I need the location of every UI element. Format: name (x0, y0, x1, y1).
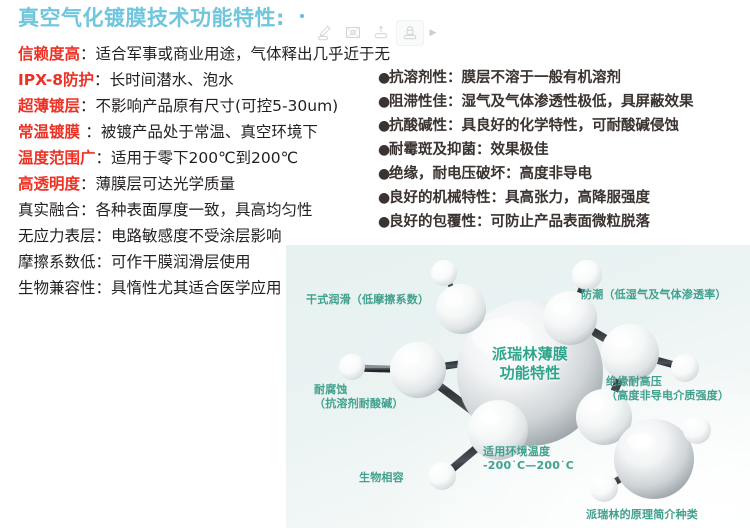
bullet-text: 良好的包覆性：可防止产品表面微粒脱落 (389, 214, 650, 230)
feature-row: 温度范围广：适用于零下200℃到200℃ (18, 145, 388, 171)
diagram-label-line: 适用环境温度 (483, 445, 574, 459)
feature-text: 适用于零下200℃到200℃ (111, 149, 298, 167)
atom-sphere-small (428, 462, 456, 490)
bullet-row: ●良好的包覆性：可防止产品表面微粒脱落 (378, 210, 750, 234)
feature-separator: ： (85, 123, 101, 141)
bullet-text: 绝缘，耐电压破坏：高度非导电 (389, 166, 592, 182)
bullet-row: ●绝缘，耐电压破坏：高度非导电 (378, 162, 750, 186)
diagram-center-line1: 派瑞林薄膜 (472, 345, 588, 364)
feature-label: 无应力表层 (18, 227, 96, 245)
bullet-dot-icon: ● (378, 114, 389, 138)
atom-sphere (601, 324, 659, 382)
lock-image-icon[interactable] (396, 20, 424, 46)
feature-label: IPX-8防护 (18, 71, 94, 89)
toolbar-anchor-dot-icon (300, 14, 304, 18)
atom-sphere-small (431, 260, 457, 286)
diagram-center-line2: 功能特性 (472, 364, 588, 383)
feature-label: 信赖度高 (18, 45, 80, 63)
diagram-label-line: （高度非导电介质强度） (606, 389, 729, 403)
diagram-label-biocompatible: 生物相容 (359, 471, 404, 485)
page-title: 真空气化镀膜技术功能特性: (18, 2, 285, 32)
feature-label: 温度范围广 (18, 149, 96, 167)
diagram-label-line: 生物相容 (359, 471, 404, 485)
feature-label: 摩擦系数低 (18, 253, 96, 271)
parylene-molecule-diagram: 派瑞林薄膜 功能特性 干式润滑（低摩擦系数） 防潮（低湿气及气体渗透率） 耐腐蚀… (286, 245, 750, 528)
diagram-label-line: （抗溶剂耐酸碱） (314, 397, 404, 411)
image-hover-toolbar[interactable]: ▶ (312, 20, 440, 46)
diagram-label-line: -200˙C—200˙C (483, 459, 574, 473)
bullet-dot-icon: ● (378, 66, 389, 90)
bullet-text: 阻滞性佳：湿气及气体渗透性极低，具屏蔽效果 (389, 94, 694, 110)
bullet-text: 抗溶剂性：膜层不溶于一般有机溶剂 (389, 70, 621, 86)
bullet-row: ●阻滞性佳：湿气及气体渗透性极低，具屏蔽效果 (378, 90, 750, 114)
bullet-dot-icon: ● (378, 90, 389, 114)
right-feature-list: ●抗溶剂性：膜层不溶于一般有机溶剂 ●阻滞性佳：湿气及气体渗透性极低，具屏蔽效果… (378, 66, 750, 234)
feature-text: 被镀产品处于常温、真空环境下 (101, 123, 318, 141)
feature-label: 超薄镀层 (18, 97, 80, 115)
feature-separator: ： (80, 175, 96, 193)
feature-separator: ： (80, 201, 96, 219)
atom-sphere (436, 284, 486, 334)
diagram-label-corrosion-resistant: 耐腐蚀 （抗溶剂耐酸碱） (314, 383, 404, 411)
feature-label: 常温镀膜 (18, 123, 85, 141)
diagram-center-label: 派瑞林薄膜 功能特性 (472, 345, 588, 383)
diagram-label-high-voltage-insulation: 绝缘耐高压 （高度非导电介质强度） (606, 375, 729, 403)
bullet-text: 良好的机械特性：具高张力，高降服强度 (389, 190, 650, 206)
feature-text: 不影响产品原有尺寸(可控5-30um) (96, 97, 339, 115)
bullet-dot-icon: ● (378, 138, 389, 162)
feature-text: 具惰性尤其适合医学应用 (111, 279, 282, 297)
bullet-dot-icon: ● (378, 210, 389, 234)
share-image-icon[interactable] (368, 21, 394, 45)
feature-row: IPX-8防护：长时间潜水、泡水 (18, 67, 388, 93)
diagram-label-line: 绝缘耐高压 (606, 375, 729, 389)
bullet-text: 抗酸碱性：具良好的化学特性，可耐酸碱侵蚀 (389, 118, 679, 134)
feature-separator: ： (96, 227, 112, 245)
feature-separator: ： (80, 45, 96, 63)
toolbar-expand-caret-icon[interactable]: ▶ (426, 22, 440, 44)
diagram-label-line: 防潮（低湿气及气体渗透率） (581, 288, 727, 302)
feature-text: 电路敏感度不受涂层影响 (111, 227, 282, 245)
feature-text: 适合军事或商业用途，气体释出几乎近于无 (96, 45, 391, 63)
feature-label: 高透明度 (18, 175, 80, 193)
bullet-row: ●抗酸碱性：具良好的化学特性，可耐酸碱侵蚀 (378, 114, 750, 138)
bullet-row: ●耐霉斑及抑菌：效果极佳 (378, 138, 750, 162)
feature-row: 高透明度：薄膜层可达光学质量 (18, 171, 388, 197)
feature-text: 可作干膜润滑层使用 (111, 253, 251, 271)
atom-sphere-small (339, 354, 365, 380)
bullet-row: ●抗溶剂性：膜层不溶于一般有机溶剂 (378, 66, 750, 90)
edit-pencil-image-icon[interactable] (312, 21, 338, 45)
crop-image-icon[interactable] (340, 21, 366, 45)
atom-sphere-small (590, 474, 618, 502)
bullet-dot-icon: ● (378, 186, 389, 210)
feature-separator: ： (96, 149, 112, 167)
feature-row: 超薄镀层：不影响产品原有尺寸(可控5-30um) (18, 93, 388, 119)
bullet-row: ●良好的机械特性：具高张力，高降服强度 (378, 186, 750, 210)
diagram-label-moisture-proof: 防潮（低湿气及气体渗透率） (581, 288, 727, 302)
feature-text: 各种表面厚度一致，具高均匀性 (96, 201, 313, 219)
feature-separator: ： (94, 71, 110, 89)
feature-separator: ： (96, 279, 112, 297)
diagram-label-operating-temperature: 适用环境温度 -200˙C—200˙C (483, 445, 574, 473)
diagram-label-line: 耐腐蚀 (314, 383, 404, 397)
bullet-text: 耐霉斑及抑菌：效果极佳 (389, 142, 549, 158)
feature-row: 常温镀膜 ：被镀产品处于常温、真空环境下 (18, 119, 388, 145)
diagram-label-line: 派瑞林的原理简介种类 (586, 508, 698, 522)
feature-separator: ： (96, 253, 112, 271)
feature-label: 真实融合 (18, 201, 80, 219)
feature-text: 薄膜层可达光学质量 (96, 175, 236, 193)
diagram-label-parylene-intro: 派瑞林的原理简介种类 (586, 508, 698, 522)
feature-label: 生物兼容性 (18, 279, 96, 297)
bullet-dot-icon: ● (378, 162, 389, 186)
diagram-label-line: 干式润滑（低摩擦系数） (306, 293, 429, 307)
atom-sphere (614, 419, 694, 499)
atom-sphere-small (683, 416, 711, 444)
feature-row: 真实融合：各种表面厚度一致，具高均匀性 (18, 197, 388, 223)
page-root: 真空气化镀膜技术功能特性: 信赖度高：适合军事或商业用途，气体释出几乎近于无 I… (0, 0, 750, 528)
atom-sphere-small (572, 260, 602, 290)
feature-text: 长时间潜水、泡水 (110, 71, 234, 89)
diagram-label-dry-lubrication: 干式润滑（低摩擦系数） (306, 293, 429, 307)
feature-separator: ： (80, 97, 96, 115)
